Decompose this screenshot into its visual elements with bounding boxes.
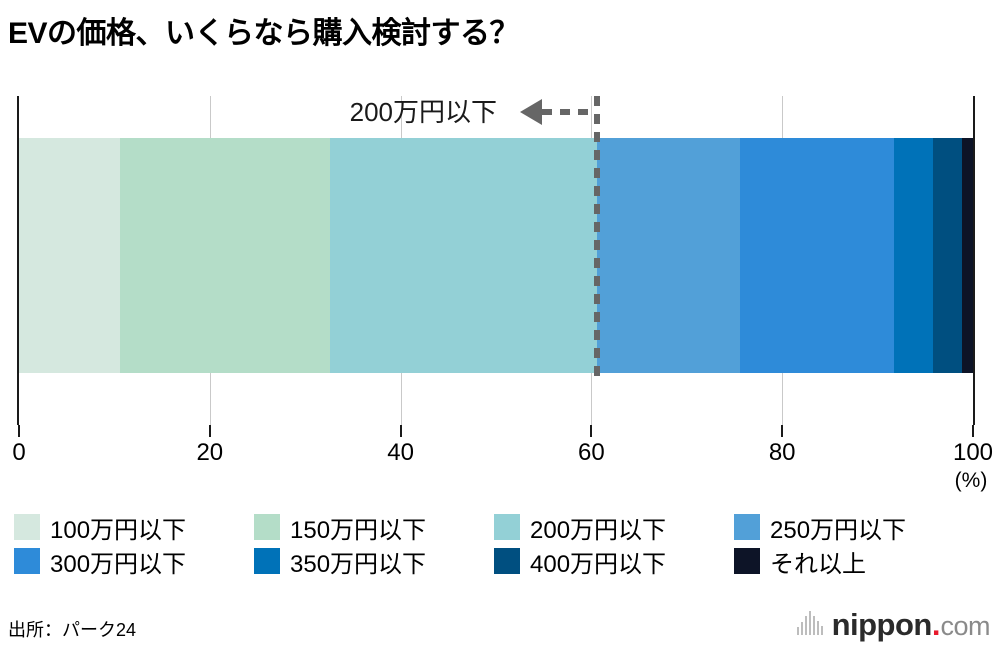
tick-mark-100 [972, 425, 974, 437]
tick-label-60: 60 [578, 439, 605, 467]
legend-item-4[interactable]: 300万円以下 [14, 544, 254, 579]
bar-segment-0 [19, 138, 120, 373]
legend-swatch-icon [494, 514, 520, 540]
legend-item-6[interactable]: 400万円以下 [494, 544, 734, 579]
tick-mark-60 [590, 425, 592, 437]
logo-bars-icon [797, 609, 825, 635]
bar-segment-7 [962, 138, 972, 373]
stacked-bar [19, 138, 973, 373]
plot-area: 200万円以下 [19, 96, 973, 425]
bar-segment-2 [330, 138, 597, 373]
tick-label-40: 40 [387, 439, 414, 467]
legend-item-3[interactable]: 250万円以下 [734, 510, 974, 545]
legend-swatch-icon [734, 514, 760, 540]
tick-mark-80 [781, 425, 783, 437]
legend-item-7[interactable]: それ以上 [734, 544, 974, 579]
tick-mark-40 [400, 425, 402, 437]
annotation-dashed-vertical-line [594, 96, 600, 383]
legend-swatch-icon [14, 548, 40, 574]
legend-label: 350万円以下 [290, 544, 426, 579]
legend-label: 250万円以下 [770, 510, 906, 545]
annotation-dashed-connector [542, 109, 594, 115]
legend-row: 300万円以下350万円以下400万円以下それ以上 [14, 544, 974, 578]
logo-bar [817, 621, 819, 635]
legend-swatch-icon [254, 548, 280, 574]
tick-label-80: 80 [769, 439, 796, 467]
logo-bar [801, 622, 803, 635]
nippon-com-logo: nippon . com [797, 607, 990, 643]
legend-label: 150万円以下 [290, 510, 426, 545]
logo-bar [805, 616, 807, 635]
legend-swatch-icon [494, 548, 520, 574]
source-note: 出所：パーク24 [8, 616, 136, 642]
logo-bar [809, 611, 811, 635]
logo-wordmark: nippon [832, 607, 932, 643]
tick-mark-20 [209, 425, 211, 437]
legend-item-2[interactable]: 200万円以下 [494, 510, 734, 545]
legend-label: 200万円以下 [530, 510, 666, 545]
tick-label-20: 20 [196, 439, 223, 467]
tick-label-100: 100 [953, 439, 993, 467]
axis-unit-label: (%) [955, 469, 988, 493]
legend-label: それ以上 [770, 544, 866, 579]
legend-label: 400万円以下 [530, 544, 666, 579]
legend-row: 100万円以下150万円以下200万円以下250万円以下 [14, 510, 974, 544]
annotation-arrow-icon [520, 99, 542, 125]
annotation-label: 200万円以下 [350, 92, 497, 129]
logo-dot: . [932, 607, 941, 643]
legend-item-5[interactable]: 350万円以下 [254, 544, 494, 579]
bar-segment-6 [933, 138, 963, 373]
annotation-group: 200万円以下 [19, 96, 973, 138]
x-axis: (%) 020406080100 [19, 425, 973, 485]
infographic-page: EVの価格、いくらなら購入検討する？ 200万円以下 (%) 020406080… [0, 0, 1000, 650]
legend-swatch-icon [734, 548, 760, 574]
legend-label: 300万円以下 [50, 544, 186, 579]
logo-suffix: com [940, 611, 990, 642]
legend-item-0[interactable]: 100万円以下 [14, 510, 254, 545]
axis-line-right [973, 96, 975, 425]
legend-item-1[interactable]: 150万円以下 [254, 510, 494, 545]
tick-mark-0 [18, 425, 20, 437]
logo-bar [797, 627, 799, 635]
bar-segment-5 [894, 138, 933, 373]
legend-swatch-icon [254, 514, 280, 540]
legend-label: 100万円以下 [50, 510, 186, 545]
bar-segment-1 [120, 138, 330, 373]
legend-swatch-icon [14, 514, 40, 540]
page-title: EVの価格、いくらなら購入検討する？ [8, 8, 519, 52]
legend: 100万円以下150万円以下200万円以下250万円以下300万円以下350万円… [14, 510, 974, 578]
bar-segment-3 [597, 138, 740, 373]
tick-label-0: 0 [12, 439, 25, 467]
logo-bar [821, 626, 823, 635]
logo-bar [813, 616, 815, 635]
bar-segment-4 [740, 138, 894, 373]
